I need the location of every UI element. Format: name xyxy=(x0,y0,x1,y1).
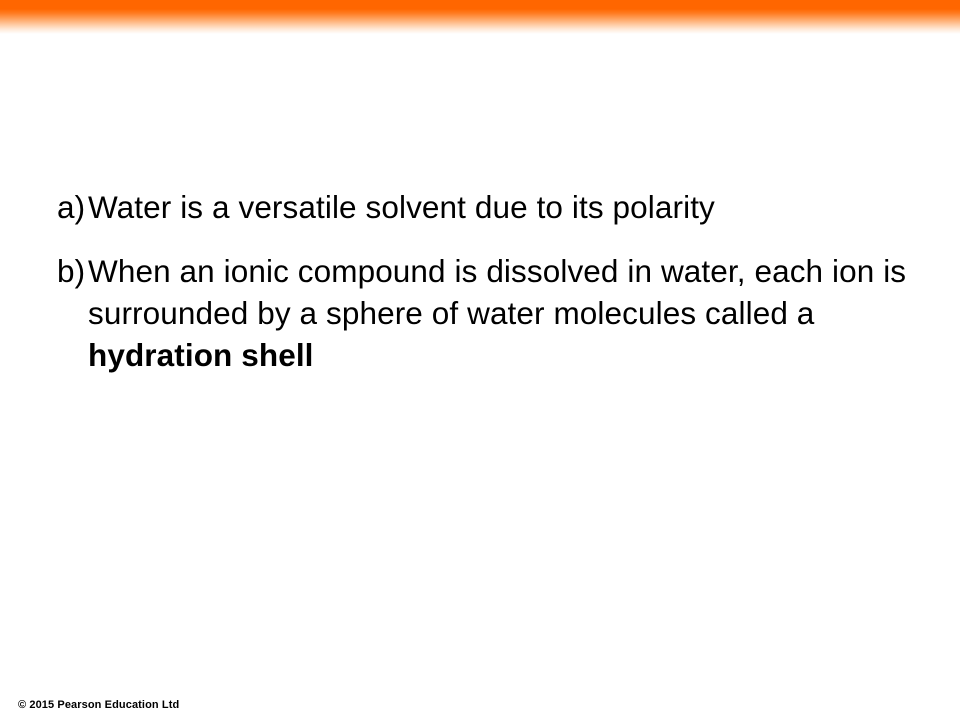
list-item-text-b: When an ionic compound is dissolved in w… xyxy=(88,250,917,376)
bulleted-list: a) Water is a versatile solvent due to i… xyxy=(57,186,917,376)
slide-canvas: a) Water is a versatile solvent due to i… xyxy=(0,0,960,720)
list-item-text-a: Water is a versatile solvent due to its … xyxy=(88,186,917,228)
list-item-text-b-bold-term: hydration shell xyxy=(88,337,314,373)
list-item-text-b-plain: When an ionic compound is dissolved in w… xyxy=(88,253,906,331)
list-item-text-a-plain: Water is a versatile solvent due to its … xyxy=(88,189,715,225)
copyright-notice: © 2015 Pearson Education Ltd xyxy=(18,699,179,712)
list-item-marker-a: a) xyxy=(57,186,88,228)
list-item: b) When an ionic compound is dissolved i… xyxy=(57,250,917,376)
list-item: a) Water is a versatile solvent due to i… xyxy=(57,186,917,228)
orange-gradient-band xyxy=(0,0,960,34)
list-item-marker-b: b) xyxy=(57,250,88,292)
